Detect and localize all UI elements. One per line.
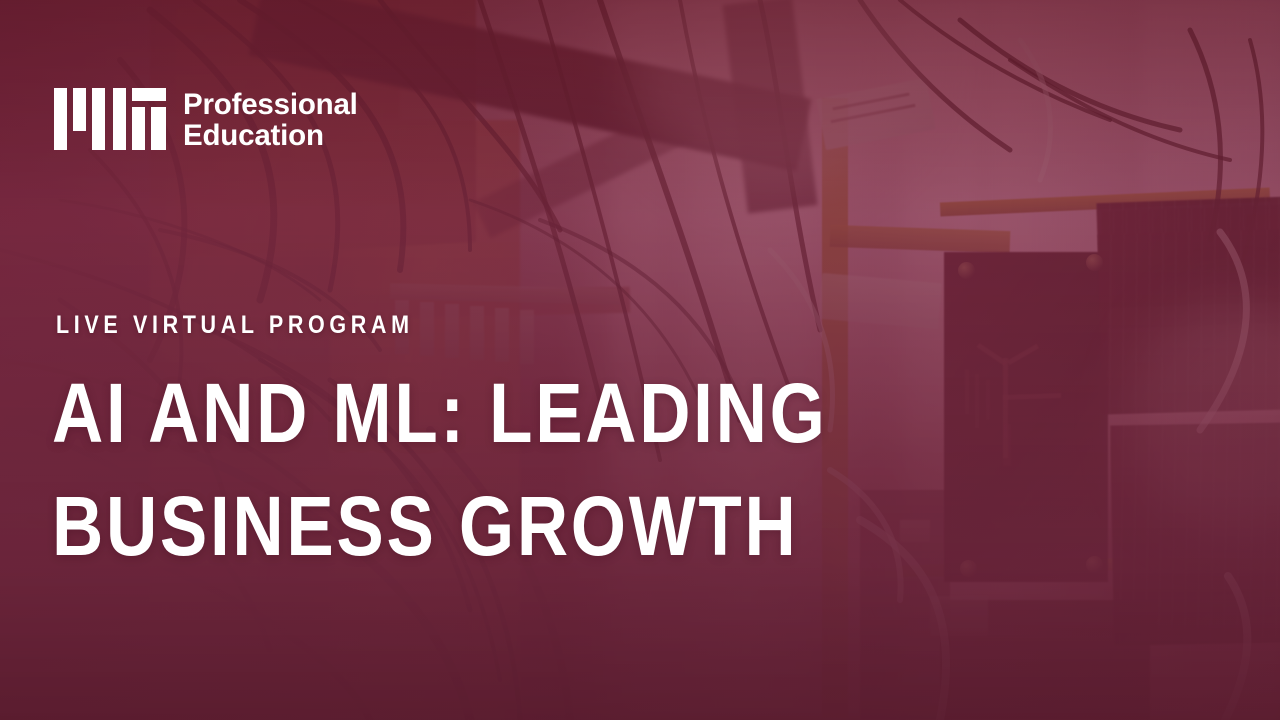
- slide-content: Professional Education LIVE VIRTUAL PROG…: [0, 0, 1280, 720]
- mit-professional-education-logo[interactable]: Professional Education: [54, 88, 358, 152]
- mit-logo-wordmark-line1: Professional: [183, 89, 358, 120]
- mit-logo-bar-7: [132, 88, 166, 101]
- mit-logo-bar-1: [54, 88, 67, 150]
- mit-logo-bar-3: [92, 88, 105, 150]
- title-slide: Professional Education LIVE VIRTUAL PROG…: [0, 0, 1280, 720]
- page-title: AI AND ML: LEADING BUSINESS GROWTH: [52, 357, 827, 583]
- mit-logo-bar-4: [113, 88, 126, 150]
- page-title-line-1: AI AND ML: LEADING: [52, 357, 827, 470]
- program-format-eyebrow: LIVE VIRTUAL PROGRAM: [56, 311, 414, 340]
- page-title-line-2: BUSINESS GROWTH: [52, 470, 827, 583]
- mit-logo-bar-2: [73, 88, 86, 131]
- mit-logo-wordmark: Professional Education: [183, 88, 358, 152]
- mit-logo-bar-6: [151, 107, 166, 150]
- mit-logo-wordmark-line2: Education: [183, 120, 358, 151]
- mit-logo-bar-5: [132, 107, 145, 150]
- mit-logo: [54, 88, 166, 150]
